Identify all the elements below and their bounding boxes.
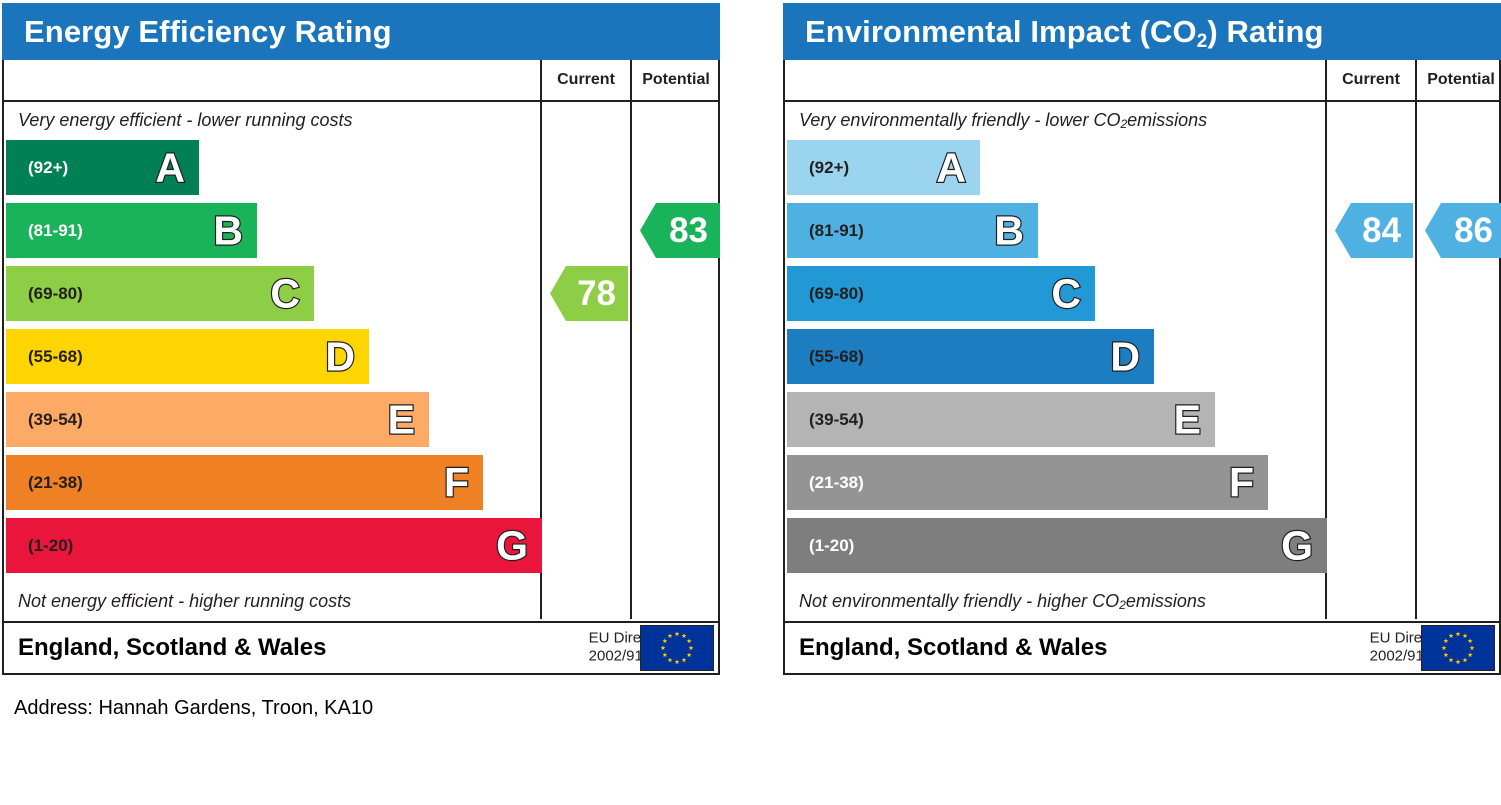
band-letter: E — [1174, 399, 1201, 440]
column-header-potential-environmental: Potential — [1417, 60, 1501, 100]
caption-bottom-env-main: Not environmentally friendly - higher CO — [799, 591, 1119, 612]
caption-top-env-tail: emissions — [1127, 110, 1207, 131]
rating-arrow-current-energy: 78 — [550, 266, 628, 321]
co2-subscript-bottom: 2 — [1119, 598, 1126, 612]
band-letter: G — [1281, 525, 1313, 566]
band-range-label: (21-38) — [809, 473, 864, 493]
band-c-energy: (69-80)C — [6, 266, 314, 321]
band-b-energy: (81-91)B — [6, 203, 257, 258]
chart-footer-environmental: England, Scotland & Wales EU Directive 2… — [785, 623, 1499, 673]
page-title-env-tail: ) Rating — [1207, 14, 1323, 49]
band-a-environmental: (92+)A — [787, 140, 980, 195]
band-range-label: (81-91) — [28, 221, 83, 241]
column-header-current-environmental: Current — [1327, 60, 1415, 100]
band-range-label: (21-38) — [28, 473, 83, 493]
band-g-energy: (1-20)G — [6, 518, 542, 573]
page-title-environmental: Environmental Impact (CO2) Rating — [805, 16, 1324, 47]
band-a-energy: (92+)A — [6, 140, 199, 195]
rating-arrow-potential-energy: 83 — [640, 203, 720, 258]
band-range-label: (69-80) — [28, 284, 83, 304]
chart-footer-energy: England, Scotland & Wales EU Directive 2… — [4, 623, 718, 673]
band-letter: D — [325, 336, 355, 377]
region-label-environmental: England, Scotland & Wales — [799, 634, 1107, 662]
band-letter: D — [1110, 336, 1140, 377]
chart-header-energy: Energy Efficiency Rating — [2, 3, 720, 60]
band-range-label: (39-54) — [809, 410, 864, 430]
band-range-label: (55-68) — [809, 347, 864, 367]
caption-top-environmental: Very environmentally friendly - lower CO… — [785, 100, 1325, 140]
band-range-label: (1-20) — [809, 536, 854, 556]
property-address: Address: Hannah Gardens, Troon, KA10 — [14, 697, 373, 720]
band-list-energy: (92+)A(81-91)B(69-80)C(55-68)D(39-54)E(2… — [4, 140, 540, 581]
page-title-env-main: Environmental Impact (CO — [805, 14, 1197, 49]
eu-flag-icon-environmental — [1421, 625, 1495, 671]
region-label-energy: England, Scotland & Wales — [18, 634, 326, 662]
column-divider-2-energy — [630, 60, 632, 619]
eu-flag-icon-energy — [640, 625, 714, 671]
band-letter: G — [496, 525, 528, 566]
band-letter: B — [213, 210, 243, 251]
column-divider-2-environmental — [1415, 60, 1417, 619]
band-range-label: (1-20) — [28, 536, 73, 556]
band-letter: F — [1229, 462, 1254, 503]
chart-header-environmental: Environmental Impact (CO2) Rating — [783, 3, 1501, 60]
caption-top-env-main: Very environmentally friendly - lower CO — [799, 110, 1120, 131]
band-list-environmental: (92+)A(81-91)B(69-80)C(55-68)D(39-54)E(2… — [785, 140, 1325, 581]
band-d-energy: (55-68)D — [6, 329, 369, 384]
band-g-environmental: (1-20)G — [787, 518, 1327, 573]
page-title-energy: Energy Efficiency Rating — [24, 16, 392, 47]
band-range-label: (81-91) — [809, 221, 864, 241]
band-letter: B — [994, 210, 1024, 251]
band-range-label: (92+) — [28, 158, 68, 178]
band-e-energy: (39-54)E — [6, 392, 429, 447]
rating-arrow-current-environmental: 84 — [1335, 203, 1413, 258]
band-d-environmental: (55-68)D — [787, 329, 1154, 384]
band-letter: F — [444, 462, 469, 503]
caption-bottom-env-tail: emissions — [1126, 591, 1206, 612]
band-letter: A — [936, 147, 966, 188]
chart-body-environmental: Current Potential Very environmentally f… — [783, 60, 1501, 675]
band-range-label: (69-80) — [809, 284, 864, 304]
rating-arrow-potential-environmental: 86 — [1425, 203, 1501, 258]
band-f-environmental: (21-38)F — [787, 455, 1268, 510]
band-range-label: (39-54) — [28, 410, 83, 430]
caption-top-energy: Very energy efficient - lower running co… — [4, 100, 540, 140]
band-c-environmental: (69-80)C — [787, 266, 1095, 321]
caption-bottom-environmental: Not environmentally friendly - higher CO… — [785, 581, 1325, 621]
energy-efficiency-chart: Energy Efficiency Rating Current Potenti… — [2, 3, 720, 675]
band-letter: C — [1051, 273, 1081, 314]
band-f-energy: (21-38)F — [6, 455, 483, 510]
environmental-impact-chart: Environmental Impact (CO2) Rating Curren… — [783, 3, 1501, 675]
band-letter: C — [270, 273, 300, 314]
co2-subscript-top: 2 — [1120, 117, 1127, 131]
co2-subscript-title: 2 — [1197, 31, 1208, 52]
band-letter: A — [155, 147, 185, 188]
band-letter: E — [388, 399, 415, 440]
caption-bottom-energy: Not energy efficient - higher running co… — [4, 581, 540, 621]
chart-body-energy: Current Potential Very energy efficient … — [2, 60, 720, 675]
band-b-environmental: (81-91)B — [787, 203, 1038, 258]
column-header-potential-energy: Potential — [632, 60, 720, 100]
band-e-environmental: (39-54)E — [787, 392, 1215, 447]
band-range-label: (55-68) — [28, 347, 83, 367]
column-header-current-energy: Current — [542, 60, 630, 100]
epc-page: Energy Efficiency Rating Current Potenti… — [0, 0, 1501, 805]
band-range-label: (92+) — [809, 158, 849, 178]
